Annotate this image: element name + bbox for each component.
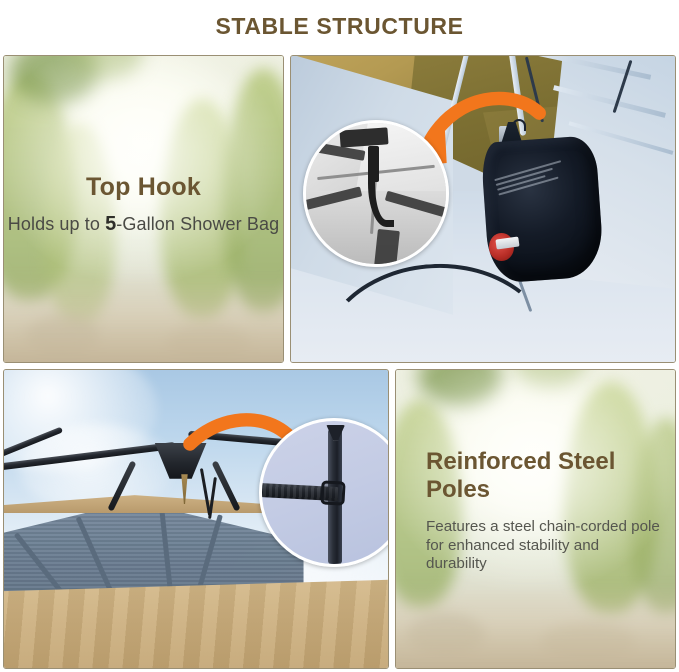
steel-poles-body: Features a steel chain-corded pole for e… — [426, 518, 661, 573]
panel-grid: Top Hook Holds up to 5-Gallon Shower Bag — [0, 52, 679, 672]
reinforced-steel-poles-text-panel: Reinforced Steel Poles Features a steel … — [395, 369, 676, 669]
top-hook-subtitle: Holds up to 5-Gallon Shower Bag — [4, 213, 283, 236]
steel-poles-text-block: Reinforced Steel Poles Features a steel … — [426, 448, 661, 573]
hook-detail-inset — [303, 120, 449, 267]
tent-canopy-tan-base — [4, 576, 388, 668]
top-hook-text-block: Top Hook Holds up to 5-Gallon Shower Bag — [4, 174, 283, 236]
subtitle-prefix: Holds up to — [8, 214, 105, 234]
top-hook-text-panel: Top Hook Holds up to 5-Gallon Shower Bag — [3, 55, 284, 363]
infographic-page: STABLE STRUCTURE Top Hook Holds up to 5-… — [0, 0, 679, 672]
tent-interior-scene — [291, 56, 675, 362]
subtitle-gallon-number: 5 — [105, 213, 116, 235]
page-header: STABLE STRUCTURE — [0, 0, 679, 52]
inset-strap — [339, 127, 388, 147]
subtitle-suffix: -Gallon Shower Bag — [116, 214, 279, 234]
inset-strap-buckle — [321, 480, 347, 506]
sky-scene — [4, 370, 388, 668]
tent-interior-photo — [290, 55, 676, 363]
steel-poles-heading: Reinforced Steel Poles — [426, 448, 661, 504]
top-hook-heading: Top Hook — [4, 174, 283, 202]
pole-hub-photo — [3, 369, 389, 669]
page-title: STABLE STRUCTURE — [215, 13, 463, 40]
inset-strap — [374, 229, 400, 267]
